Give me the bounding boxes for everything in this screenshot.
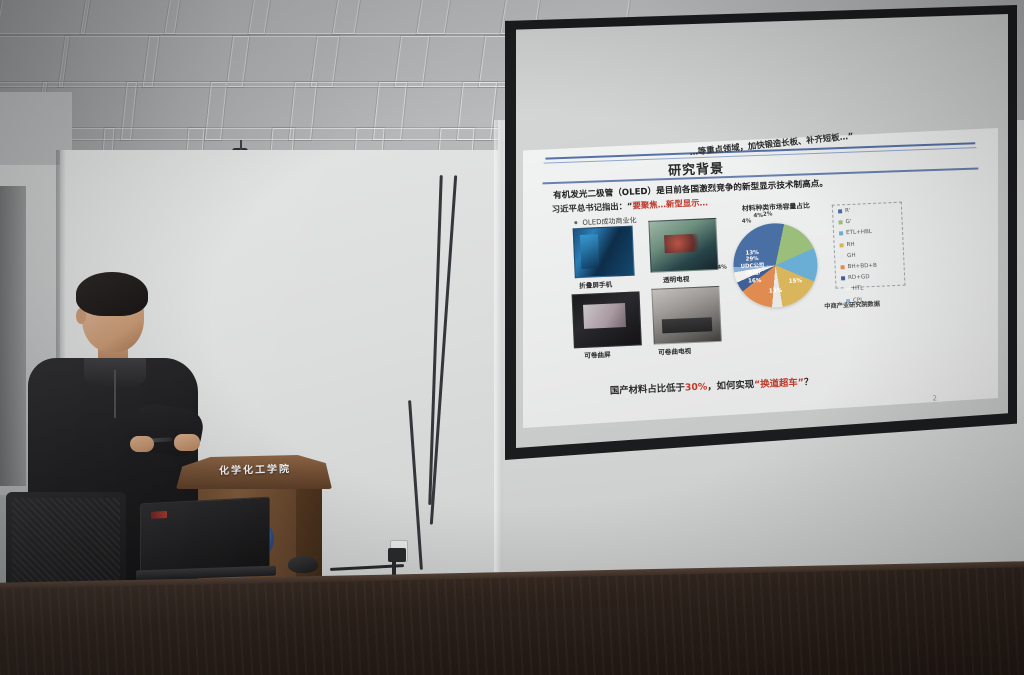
legend-item: ETL+HBL (846, 229, 872, 236)
pie-slice-label: 13% (769, 288, 783, 295)
thumbnail-rollable-tv (651, 286, 721, 345)
pie-slice-label: 2% (763, 211, 773, 217)
thumbnail-caption-2: 透明电视 (663, 273, 690, 284)
legend-swatch (840, 254, 844, 258)
pie-chart-labels: 15%13%16%4%13%4%4%2%29%UDC公司（美国） (723, 213, 823, 217)
xi-quote-highlight: 要聚焦…新型显示… (632, 197, 708, 210)
legend-item: RH (846, 241, 854, 247)
plug-icon (388, 548, 406, 562)
pie-slice-label: 4% (717, 264, 727, 270)
pie-chart: 15%13%16%4%13%4%4%2%29%UDC公司（美国） (723, 213, 827, 317)
thumbnail-caption-1: 折叠屏手机 (579, 279, 612, 290)
legend-item: G' (845, 219, 851, 225)
slide-page-number: 2 (932, 394, 937, 402)
pie-slice-label: 4% (753, 213, 763, 219)
chair-mesh (12, 498, 120, 582)
laptop-logo-icon (151, 511, 167, 519)
thumbnail-rollable-screen (572, 291, 642, 348)
thumbnail-transparent-tv (648, 218, 718, 273)
xi-quote-prefix: 习近平总书记指出：“ (552, 201, 633, 215)
slide-bottom-question: 国产材料占比低于30%，如何实现“换道超车”？ (610, 374, 814, 397)
presenter-zipper (114, 370, 116, 418)
wall-corner-right (494, 120, 503, 620)
presentation-slide: 研究背景 …等重点领域，加快锻造长板、补齐短板…” 有机发光二极管（OLED）是… (517, 118, 1005, 439)
pie-slice-label: 16% (748, 278, 762, 285)
presenter-hair (76, 272, 148, 316)
bottom-prefix: 国产材料占比低于 (610, 382, 685, 396)
bottom-suffix: ？ (804, 377, 814, 388)
legend-swatch (839, 232, 843, 236)
chart-title: 材料种类市场容量占比 (742, 200, 810, 213)
legend-item: GH (847, 253, 856, 259)
legend-item: RD+GD (848, 274, 870, 281)
legend-swatch (846, 287, 850, 291)
pie-slice-label: 15% (789, 278, 803, 285)
lecture-room-photo: 研究背景 …等重点领域，加快锻造长板、补齐短板…” 有机发光二极管（OLED）是… (0, 0, 1024, 675)
pie-slice-label-udc: 29%UDC公司（美国） (735, 256, 770, 278)
pie-slice-label: 4% (742, 218, 752, 224)
laptop[interactable] (140, 500, 276, 584)
bottom-quoted: “换道超车” (754, 377, 804, 390)
legend-swatch (840, 243, 844, 247)
presenter-hand-left (130, 436, 154, 452)
bottom-mid: ，如何实现 (707, 379, 754, 392)
legend-item: R' (845, 208, 851, 214)
legend-item: HTL (852, 286, 863, 292)
legend-swatch (841, 276, 845, 280)
thumbnail-caption-3: 可卷曲屏 (584, 349, 611, 360)
computer-mouse[interactable] (288, 556, 318, 573)
chart-source-note: 中商产业研究院数据 (824, 299, 880, 310)
bullet-dot-icon (574, 221, 577, 224)
thumbnail-caption-4: 可卷曲电视 (658, 345, 691, 356)
legend-swatch (838, 209, 842, 213)
legend-swatch (839, 220, 843, 224)
bottom-percent: 30% (685, 381, 708, 393)
presenter-hand-right (174, 434, 200, 451)
thumbnail-foldable-phone (573, 226, 635, 279)
office-chair (6, 492, 126, 588)
legend-swatch (841, 265, 845, 269)
